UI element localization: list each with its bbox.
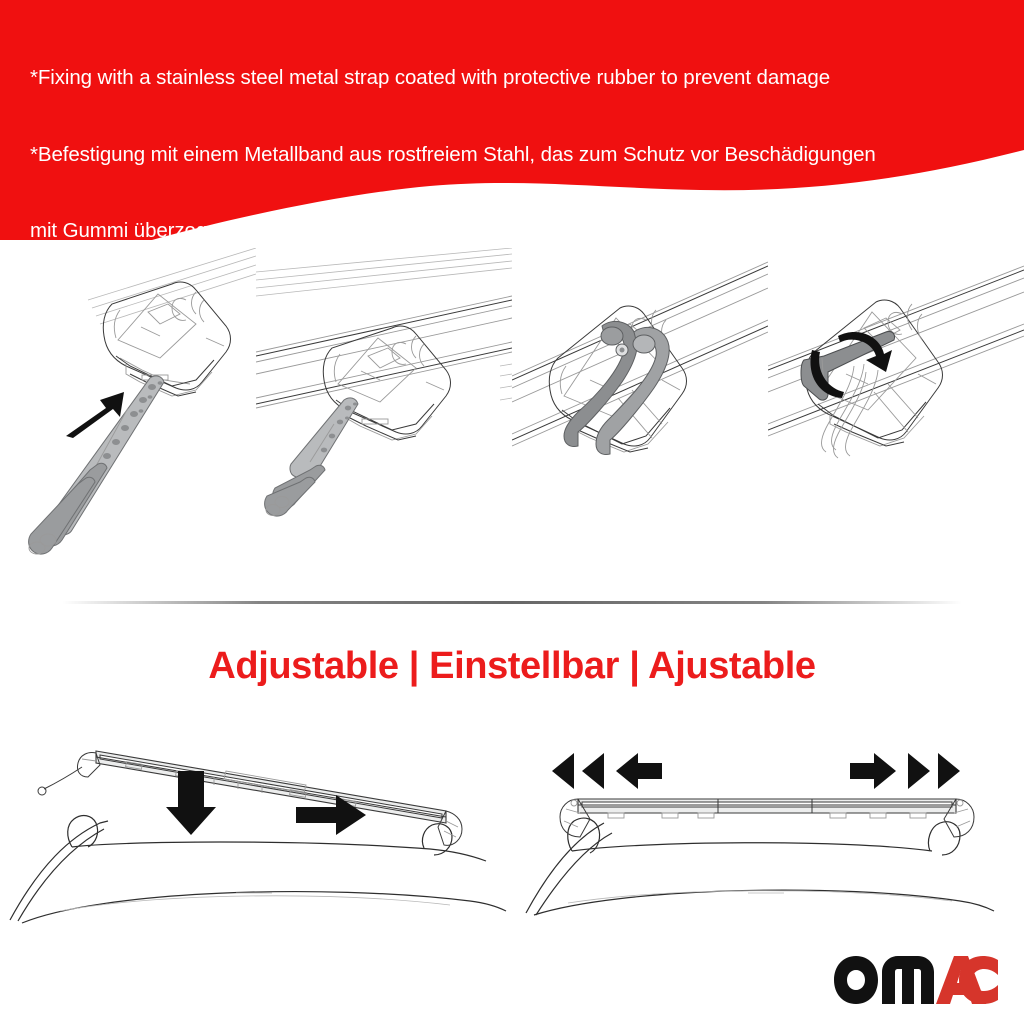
step-4-tighten-with-allen-key xyxy=(768,248,1024,568)
perforated-metal-strap-1 xyxy=(29,376,164,554)
step-1-insert-strap xyxy=(0,248,256,568)
roof-rail-2-upper xyxy=(256,248,512,296)
banner-line-de-1: *Befestigung mit einem Metallband aus ro… xyxy=(30,142,1005,168)
step-1-illustration xyxy=(0,248,256,568)
roof-rail-1 xyxy=(88,248,256,324)
banner-line-de-2: mit Gummi überzogen ist xyxy=(30,218,1005,244)
step-2-strap-under-rail xyxy=(256,248,512,568)
roof-rail-4 xyxy=(768,266,1024,436)
adjustable-diagrams-row xyxy=(0,715,1024,940)
logo-om-letters xyxy=(834,956,934,1004)
step-3-strap-wrapped xyxy=(512,248,768,568)
step-2-illustration xyxy=(256,248,512,568)
logo-ac-letters xyxy=(936,956,998,1004)
crossbar-left xyxy=(38,751,462,845)
rubber-coated-strap-4 xyxy=(822,364,879,458)
roof-rail-2-main xyxy=(256,296,512,408)
step-3-illustration xyxy=(512,248,768,568)
roof-rail-2-right xyxy=(500,364,512,400)
omac-logo xyxy=(832,954,1000,1006)
crossbar-width-illustration xyxy=(512,715,1024,940)
triple-left-arrow xyxy=(552,753,662,789)
perforated-metal-strap-2 xyxy=(265,398,358,516)
car-roof-left xyxy=(10,816,506,923)
crossbar-right xyxy=(560,799,974,837)
car-roof-right xyxy=(526,818,994,915)
adjustable-headline: Adjustable | Einstellbar | Ajustable xyxy=(0,645,1024,688)
omac-logo-mark xyxy=(832,954,1000,1006)
rubber-coated-strap-3 xyxy=(564,321,669,454)
installation-steps-row xyxy=(0,248,1024,568)
crossbar-width-adjust xyxy=(512,715,1024,940)
section-divider xyxy=(62,601,962,604)
crossbar-place-on-roof xyxy=(0,715,512,940)
red-banner: *Fixing with a stainless steel metal str… xyxy=(0,0,1024,240)
crossbar-place-illustration xyxy=(0,715,512,940)
roof-rack-foot-1 xyxy=(103,282,230,396)
step-4-illustration xyxy=(768,248,1024,568)
product-infographic-page: *Fixing with a stainless steel metal str… xyxy=(0,0,1024,1024)
triple-right-arrow xyxy=(850,753,960,789)
roof-rail-3 xyxy=(512,262,768,446)
banner-line-en: *Fixing with a stainless steel metal str… xyxy=(30,65,1005,91)
